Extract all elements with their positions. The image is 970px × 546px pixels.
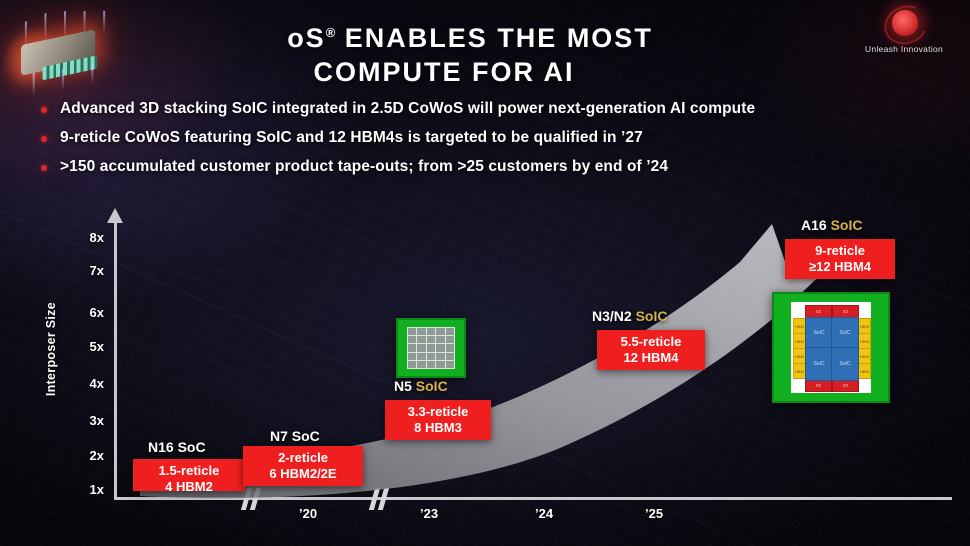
y-axis-ticks: 8x 7x 6x 5x 4x 3x 2x 1x <box>72 200 104 500</box>
x-axis-break <box>372 488 390 510</box>
interposer-size-chart: Interposer Size 8x 7x 6x 5x 4x 3x 2x 1x … <box>0 200 970 546</box>
node-label-n5: N5 SoIC <box>394 378 448 394</box>
node-name: N16 <box>148 439 174 455</box>
callout-reticle: 5.5-reticle <box>607 334 695 350</box>
y-axis-arrowhead <box>107 208 123 223</box>
package-n5-die-array <box>407 327 455 369</box>
company-logo: Unleash Innovation <box>852 6 956 68</box>
x-tick: ’24 <box>535 506 553 521</box>
logo-blob-icon <box>892 10 918 36</box>
chip-die <box>43 55 98 80</box>
node-name: N5 <box>394 378 412 394</box>
page-title: oS® ENABLES THE MOST COMPUTE FOR AI <box>150 16 790 89</box>
callout-hbm: ≥12 HBM4 <box>795 259 885 275</box>
package-a16-soic-die: SoIC <box>831 347 859 381</box>
callout-n7: 2-reticle 6 HBM2/2E <box>243 446 363 486</box>
callout-hbm: 12 HBM4 <box>607 350 695 366</box>
node-name: N3/N2 <box>592 308 632 324</box>
callout-a16: 9-reticle ≥12 HBM4 <box>785 239 895 279</box>
node-label-a16: A16 SoIC <box>801 217 862 233</box>
callout-n5: 3.3-reticle 8 HBM3 <box>385 400 491 440</box>
package-n5 <box>396 318 466 378</box>
package-a16: IO IO IO IO HBM HBM HBM HBM HBM HBM HBM … <box>772 292 890 403</box>
y-tick: 3x <box>90 413 104 428</box>
x-axis-line <box>114 497 952 500</box>
x-tick: ’23 <box>420 506 438 521</box>
y-axis-label: Interposer Size <box>44 302 58 396</box>
bullet-list: Advanced 3D stacking SoIC integrated in … <box>38 100 938 187</box>
package-a16-hbm: HBM <box>858 318 871 334</box>
logo-mark-icon <box>884 6 924 42</box>
logo-tagline: Unleash Innovation <box>852 44 956 54</box>
node-suffix: SoC <box>178 439 206 455</box>
x-axis-break <box>244 488 262 510</box>
title-line2: COMPUTE FOR AI <box>98 55 790 89</box>
x-tick: ’20 <box>299 506 317 521</box>
y-tick: 4x <box>90 376 104 391</box>
callout-reticle: 1.5-reticle <box>143 463 235 479</box>
package-a16-hbm: HBM <box>858 333 871 349</box>
y-tick: 6x <box>90 305 104 320</box>
y-tick: 7x <box>90 263 104 278</box>
package-a16-soic-die: SoIC <box>831 317 859 349</box>
callout-hbm: 6 HBM2/2E <box>253 466 353 482</box>
x-tick: ’25 <box>645 506 663 521</box>
node-suffix: SoIC <box>416 378 448 394</box>
callout-n16: 1.5-reticle 4 HBM2 <box>133 459 245 491</box>
callout-hbm: 8 HBM3 <box>395 420 481 436</box>
y-tick: 8x <box>90 230 104 245</box>
node-label-n7: N7 SoC <box>270 428 320 444</box>
y-tick: 1x <box>90 482 104 495</box>
node-suffix: SoIC <box>636 308 668 324</box>
node-name: A16 <box>801 217 827 233</box>
node-name: N7 <box>270 428 288 444</box>
callout-reticle: 9-reticle <box>795 243 885 259</box>
callout-n3n2: 5.5-reticle 12 HBM4 <box>597 330 705 370</box>
bullet-item: >150 accumulated customer product tape-o… <box>38 158 938 176</box>
callout-reticle: 2-reticle <box>253 450 353 466</box>
callout-reticle: 3.3-reticle <box>395 404 481 420</box>
slide-root: oS® ENABLES THE MOST COMPUTE FOR AI Unle… <box>0 0 970 546</box>
y-tick: 5x <box>90 339 104 354</box>
package-a16-soic-die: SoIC <box>805 347 833 381</box>
y-tick: 2x <box>90 448 104 463</box>
node-suffix: SoIC <box>831 217 863 233</box>
bullet-item: 9-reticle CoWoS featuring SoIC and 12 HB… <box>38 129 938 147</box>
node-label-n3n2: N3/N2 SoIC <box>592 308 667 324</box>
title-line1: ENABLES THE MOST <box>335 23 653 53</box>
package-a16-hbm: HBM <box>858 348 871 364</box>
registered-mark-icon: ® <box>326 25 336 40</box>
node-suffix: SoC <box>292 428 320 444</box>
package-a16-hbm: HBM <box>858 363 871 379</box>
node-label-n16: N16 SoC <box>148 439 206 455</box>
package-a16-soic-die: SoIC <box>805 317 833 349</box>
callout-hbm: 4 HBM2 <box>143 479 235 491</box>
y-axis-line <box>114 222 117 500</box>
title-prefix: oS <box>287 23 326 53</box>
bullet-item: Advanced 3D stacking SoIC integrated in … <box>38 100 938 118</box>
